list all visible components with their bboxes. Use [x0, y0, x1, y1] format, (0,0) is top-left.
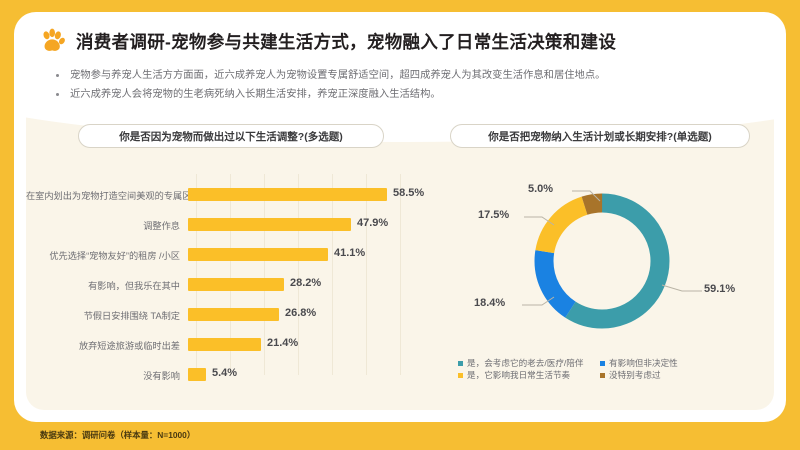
bar-track: 58.5%: [188, 188, 436, 202]
bar-fill: [188, 368, 206, 381]
slide-header: 消费者调研-宠物参与共建生活方式，宠物融入了日常生活决策和建设 宠物参与养宠人生…: [40, 28, 760, 104]
legend-label: 没特别考虑过: [609, 369, 661, 381]
legend-swatch-yellow: [458, 373, 463, 378]
bar-label: 放弃短途旅游或临时出差: [26, 338, 188, 352]
title-row: 消费者调研-宠物参与共建生活方式，宠物融入了日常生活决策和建设: [40, 28, 760, 54]
bar-value: 28.2%: [290, 277, 321, 289]
bar-fill: [188, 248, 328, 261]
slide-canvas: 消费者调研-宠物参与共建生活方式，宠物融入了日常生活决策和建设 宠物参与养宠人生…: [0, 0, 800, 450]
page-title: 消费者调研-宠物参与共建生活方式，宠物融入了日常生活决策和建设: [76, 29, 616, 54]
donut-svg: [450, 165, 760, 360]
leader-line: [662, 285, 702, 291]
bar-track: 41.1%: [188, 248, 436, 262]
legend-swatch-teal: [458, 361, 463, 366]
bar-label: 调整作息: [26, 218, 188, 232]
data-source-footer: 数据来源：调研问卷（样本量：N=1000）: [40, 429, 195, 441]
bar-track: 28.2%: [188, 278, 436, 292]
bar-value: 26.8%: [285, 307, 316, 319]
right-chart-question-pill: 你是否把宠物纳入生活计划或长期安排?(单选题): [450, 124, 750, 148]
bar-fill: [188, 278, 284, 291]
bar-label: 没有影响: [26, 368, 188, 382]
legend-swatch-blue: [600, 361, 605, 366]
bar-value: 21.4%: [267, 337, 298, 349]
donut-value-label: 18.4%: [474, 297, 505, 309]
bar-row: 有影响，但我乐在其中 28.2%: [26, 278, 436, 292]
bar-track: 5.4%: [188, 368, 436, 382]
legend-item: 没特别考虑过: [600, 369, 730, 381]
bar-fill: [188, 218, 351, 231]
legend-item: 有影响但非决定性: [600, 357, 730, 369]
bullet-item: 宠物参与养宠人生活方方面面，近六成养宠人为宠物设置专属舒适空间，超四成养宠人为其…: [56, 66, 760, 85]
legend-label: 是，会考虑它的老去/医疗/陪伴: [467, 357, 584, 369]
bar-row: 放弃短途旅游或临时出差 21.4%: [26, 338, 436, 352]
bar-track: 26.8%: [188, 308, 436, 322]
bar-label: 优先选择“宠物友好”的租房 /小区: [26, 248, 188, 262]
bar-label: 节假日安排围绕 TA制定: [26, 308, 188, 322]
bar-track: 21.4%: [188, 338, 436, 352]
bar-row: 调整作息 47.9%: [26, 218, 436, 232]
bar-fill: [188, 338, 261, 351]
bar-label: 有影响，但我乐在其中: [26, 278, 188, 292]
legend-swatch-brown: [600, 373, 605, 378]
bar-value: 47.9%: [357, 217, 388, 229]
left-chart-question-pill: 你是否因为宠物而做出过以下生活调整?(多选题): [78, 124, 384, 148]
bar-value: 41.1%: [334, 247, 365, 259]
bar-chart: 在室内划出为宠物打造空间美观的专属区域 58.5% 调整作息 47.9% 优先选…: [26, 168, 436, 393]
bar-value: 58.5%: [393, 187, 424, 199]
bar-row: 优先选择“宠物友好”的租房 /小区 41.1%: [26, 248, 436, 262]
legend-item: 是，它影响我日常生活节奏: [458, 369, 600, 381]
legend-label: 有影响但非决定性: [609, 357, 678, 369]
bar-track: 47.9%: [188, 218, 436, 232]
legend-item: 是，会考虑它的老去/医疗/陪伴: [458, 357, 600, 369]
bar-fill: [188, 308, 279, 321]
donut-value-label: 59.1%: [704, 283, 735, 295]
bar-row: 节假日安排围绕 TA制定 26.8%: [26, 308, 436, 322]
donut-chart: 59.1% 18.4% 17.5% 5.0% 是，会考虑它的老去/医疗/陪伴 有…: [450, 165, 760, 395]
bar-row: 没有影响 5.4%: [26, 368, 436, 382]
legend-label: 是，它影响我日常生活节奏: [467, 369, 570, 381]
donut-value-label: 17.5%: [478, 209, 509, 221]
bullet-list: 宠物参与养宠人生活方方面面，近六成养宠人为宠物设置专属舒适空间，超四成养宠人为其…: [40, 66, 760, 104]
bar-row: 在室内划出为宠物打造空间美观的专属区域 58.5%: [26, 188, 436, 202]
bullet-item: 近六成养宠人会将宠物的生老病死纳入长期生活安排，养宠正深度融入生活结构。: [56, 85, 760, 104]
bar-label: 在室内划出为宠物打造空间美观的专属区域: [26, 188, 188, 202]
paw-icon: [40, 28, 66, 54]
bar-value: 5.4%: [212, 367, 237, 379]
bar-fill: [188, 188, 387, 201]
donut-legend: 是，会考虑它的老去/医疗/陪伴 有影响但非决定性 是，它影响我日常生活节奏 没特…: [458, 357, 758, 381]
donut-value-label: 5.0%: [528, 183, 553, 195]
